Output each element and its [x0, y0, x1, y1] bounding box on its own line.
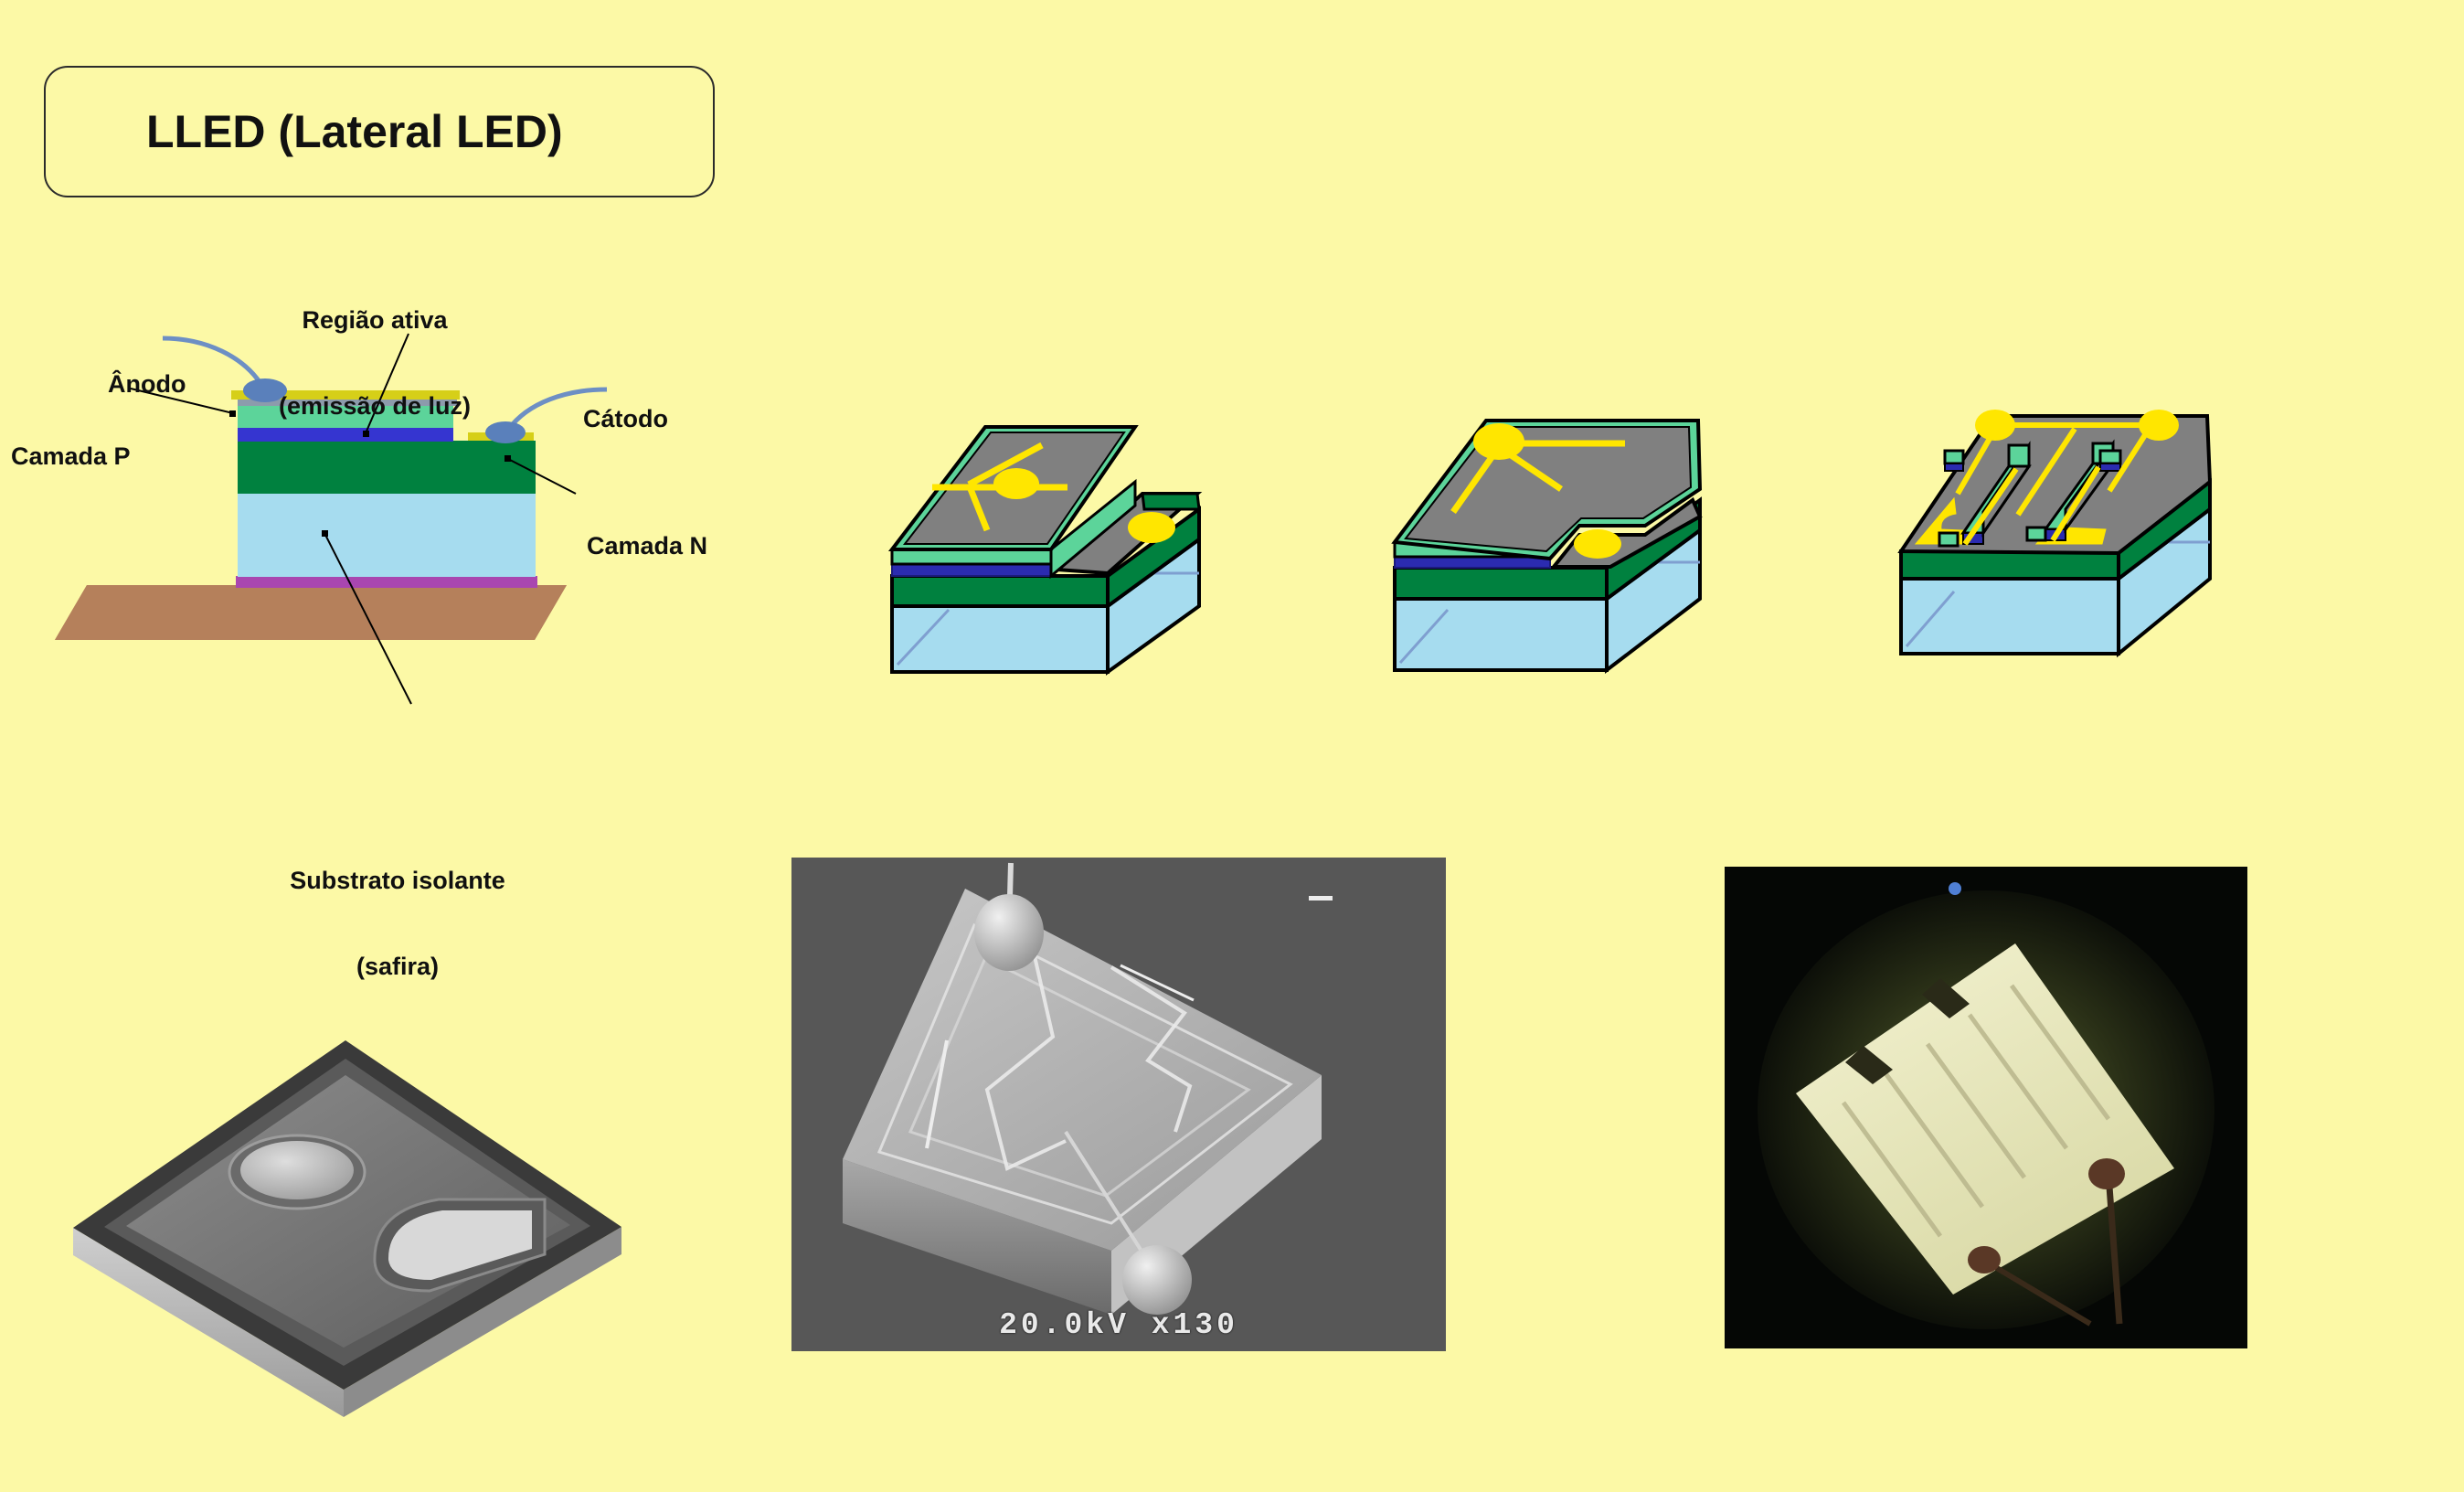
sem-scale-bar	[1309, 896, 1333, 901]
grayscale-chip-render	[37, 969, 649, 1426]
lit-led-photo	[1725, 867, 2247, 1348]
label-camada-n: Camada N	[587, 532, 707, 560]
lit-blue-speck	[1949, 882, 1961, 895]
three-d-view-corner-notch	[1371, 379, 1736, 690]
v2-n-pad	[1574, 529, 1621, 559]
v2-active-front	[1395, 557, 1550, 568]
sem-micrograph: 20.0kV x130	[791, 858, 1446, 1351]
page-title: LLED (Lateral LED)	[46, 105, 563, 158]
v1-substrate-front	[892, 606, 1108, 672]
v1-p-front	[892, 549, 1051, 564]
v2-n-layer-front	[1395, 568, 1607, 599]
v1-n-pad	[1128, 512, 1175, 543]
label-active-region-line2: (emissão de luz)	[256, 392, 494, 421]
v1-active-front	[892, 564, 1051, 576]
sem-ball-bond-top	[974, 894, 1044, 971]
title-box: LLED (Lateral LED)	[44, 66, 715, 197]
sem-overlay-text: 20.0kV x130	[791, 1308, 1446, 1342]
v1-n-layer-front	[892, 576, 1108, 606]
leader-dot-p	[229, 410, 236, 417]
sapphire-substrate	[238, 494, 536, 577]
three-d-view-striped-contact	[877, 379, 1243, 690]
v3-n-layer-front	[1901, 551, 2119, 579]
slide-canvas: LLED (Lateral LED)	[0, 0, 2464, 1492]
label-active-region-line1: Região ativa	[256, 306, 494, 335]
label-camada-p: Camada P	[11, 442, 131, 471]
v1-n-terrace-rim	[1142, 494, 1199, 509]
v2-anode-pad	[1473, 423, 1524, 460]
label-substrate-line1: Substrato isolante	[265, 867, 530, 895]
submount-board-body	[55, 585, 567, 640]
lit-ball-right	[2088, 1158, 2125, 1189]
v3-anode-pad-right	[2139, 410, 2179, 441]
v3-anode-pad-left	[1975, 410, 2015, 441]
leader-dot-n	[504, 455, 511, 462]
render-p-pad-inner	[240, 1141, 354, 1199]
label-anode: Ânodo	[108, 370, 186, 399]
sem-image-content	[791, 858, 1446, 1351]
label-active-region: Região ativa (emissão de luz)	[256, 249, 494, 478]
bonding-layer	[236, 576, 537, 588]
label-cathode: Cátodo	[583, 405, 668, 433]
leader-dot-substrate	[322, 530, 328, 537]
three-d-view-interdigitated	[1874, 379, 2239, 690]
v1-anode-pad	[993, 468, 1039, 499]
sem-ball-bond-bottom	[1122, 1245, 1192, 1315]
lit-ball-bottom	[1968, 1246, 2001, 1274]
